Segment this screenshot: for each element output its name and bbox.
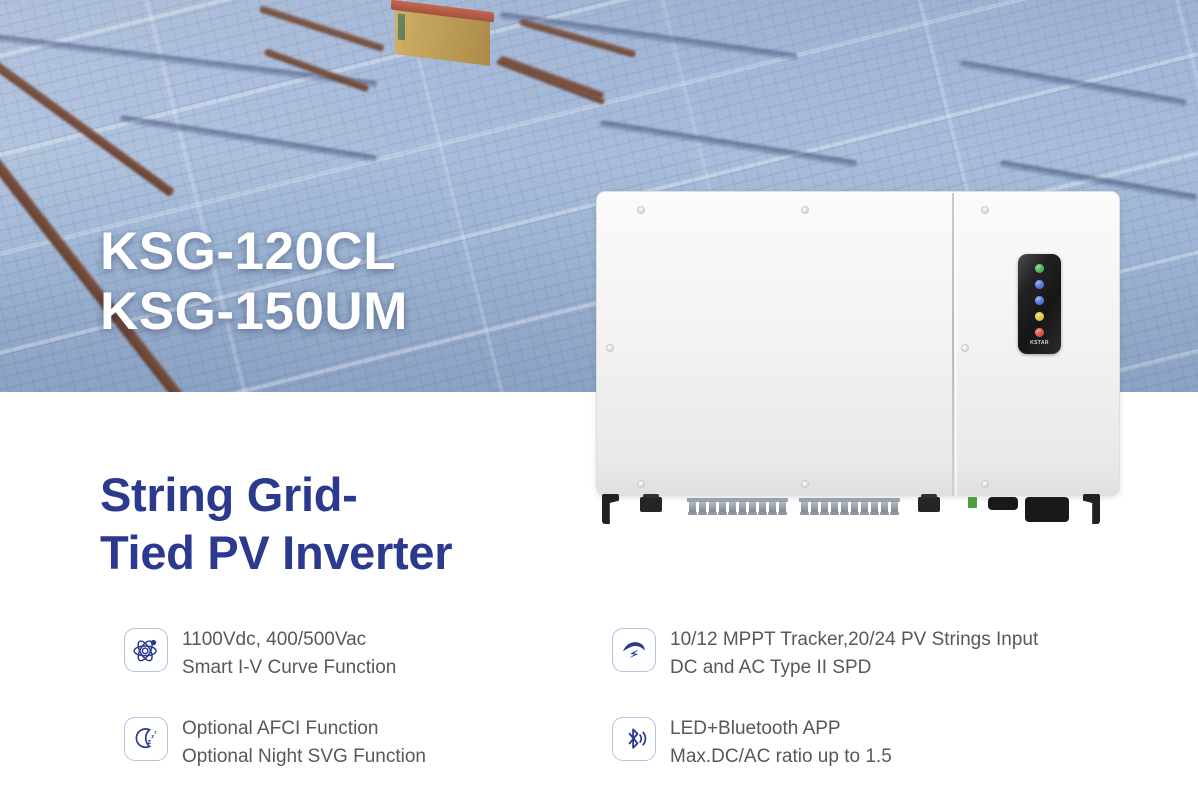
dc-connector	[801, 498, 808, 515]
feature-line-2: DC and AC Type II SPD	[670, 654, 1038, 682]
svg-text:z: z	[151, 734, 154, 740]
dc-connector-group-2	[801, 498, 898, 515]
dc-connector	[689, 498, 696, 515]
feature-line-1: 1100Vdc, 400/500Vac	[182, 626, 396, 654]
dc-connector	[769, 498, 776, 515]
feature-line-2: Smart I-V Curve Function	[182, 654, 396, 682]
dc-connector	[841, 498, 848, 515]
dc-connector	[739, 498, 746, 515]
grid-led	[1035, 280, 1044, 289]
dc-connector	[719, 498, 726, 515]
svg-text:z: z	[154, 729, 157, 734]
dc-connector	[861, 498, 868, 515]
chassis-screw	[981, 480, 989, 488]
feature-line-1: Optional AFCI Function	[182, 715, 426, 743]
dc-connector	[779, 498, 786, 515]
warning-led	[1035, 312, 1044, 321]
feature-text-bluetooth: LED+Bluetooth APP Max.DC/AC ratio up to …	[670, 715, 892, 771]
comm-led	[1035, 296, 1044, 305]
dc-connector	[729, 498, 736, 515]
dc-connector	[749, 498, 756, 515]
fault-led	[1035, 328, 1044, 337]
chassis-screw	[981, 206, 989, 214]
feature-line-1: 10/12 MPPT Tracker,20/24 PV Strings Inpu…	[670, 626, 1038, 654]
chassis-screw	[961, 344, 969, 352]
inverter-panel-seam-highlight	[955, 193, 958, 496]
feature-line-2: Max.DC/AC ratio up to 1.5	[670, 743, 892, 771]
hero-model-line-1: KSG-120CL	[100, 222, 408, 282]
chassis-screw	[801, 480, 809, 488]
brand-wordmark: KSTAR	[1018, 340, 1061, 346]
product-image: KSTAR	[596, 191, 1120, 525]
page-title: String Grid- Tied PV Inverter	[100, 466, 452, 582]
bluetooth-icon-box	[612, 717, 656, 761]
product-marketing-page: KSG-120CL KSG-150UM KSTAR	[0, 0, 1198, 795]
feature-list: 1100Vdc, 400/500Vac Smart I-V Curve Func…	[124, 626, 1124, 795]
dc-connector	[871, 498, 878, 515]
night-moon-icon-box: z z z	[124, 717, 168, 761]
page-title-line-1: String Grid-	[100, 466, 452, 524]
feature-item-voltage: 1100Vdc, 400/500Vac Smart I-V Curve Func…	[124, 626, 612, 682]
dc-connector	[699, 498, 706, 515]
dc-connector	[831, 498, 838, 515]
inverter-chassis: KSTAR	[596, 191, 1120, 496]
ac-conduit-box	[1025, 497, 1069, 522]
feature-row-1: 1100Vdc, 400/500Vac Smart I-V Curve Func…	[124, 626, 1124, 682]
feature-text-mppt: 10/12 MPPT Tracker,20/24 PV Strings Inpu…	[670, 626, 1038, 682]
chassis-screw	[637, 480, 645, 488]
feature-item-bluetooth: LED+Bluetooth APP Max.DC/AC ratio up to …	[612, 715, 1112, 771]
surge-protection-icon-box	[612, 628, 656, 672]
feature-item-mppt: 10/12 MPPT Tracker,20/24 PV Strings Inpu…	[612, 626, 1112, 682]
mounting-bracket-right	[1083, 494, 1100, 524]
atom-icon-box	[124, 628, 168, 672]
vent-cap	[640, 497, 662, 512]
dc-connector	[851, 498, 858, 515]
dc-connector	[759, 498, 766, 515]
atom-electron	[151, 640, 156, 645]
ground-terminal	[968, 497, 977, 508]
feature-row-2: z z z Optional AFCI Function Optional Ni…	[124, 715, 1124, 771]
ac-conduit-small	[988, 497, 1018, 510]
feature-line-1: LED+Bluetooth APP	[670, 715, 892, 743]
hero-product-model: KSG-120CL KSG-150UM	[100, 222, 408, 342]
chassis-screw	[801, 206, 809, 214]
feature-text-voltage: 1100Vdc, 400/500Vac Smart I-V Curve Func…	[182, 626, 396, 682]
chassis-screw	[637, 206, 645, 214]
dc-connector	[811, 498, 818, 515]
dc-connector	[709, 498, 716, 515]
dc-connector	[881, 498, 888, 515]
inverter-bottom-hardware	[596, 494, 1120, 525]
dc-connector	[891, 498, 898, 515]
dc-connector-group-1	[689, 498, 786, 515]
surge-protection-icon	[620, 636, 648, 664]
mounting-bracket-left	[602, 494, 619, 524]
bluetooth-icon	[620, 725, 648, 753]
feature-text-afci: Optional AFCI Function Optional Night SV…	[182, 715, 426, 771]
atom-icon	[132, 636, 160, 664]
feature-line-2: Optional Night SVG Function	[182, 743, 426, 771]
feature-item-afci: z z z Optional AFCI Function Optional Ni…	[124, 715, 612, 771]
page-title-line-2: Tied PV Inverter	[100, 524, 452, 582]
chassis-screw	[606, 344, 614, 352]
inverter-panel-seam	[952, 193, 954, 496]
power-led	[1035, 264, 1044, 273]
led-indicator-panel: KSTAR	[1018, 254, 1061, 354]
night-moon-icon: z z z	[132, 725, 160, 753]
hero-model-line-2: KSG-150UM	[100, 282, 408, 342]
dc-connector	[821, 498, 828, 515]
vent-cap	[918, 497, 940, 512]
